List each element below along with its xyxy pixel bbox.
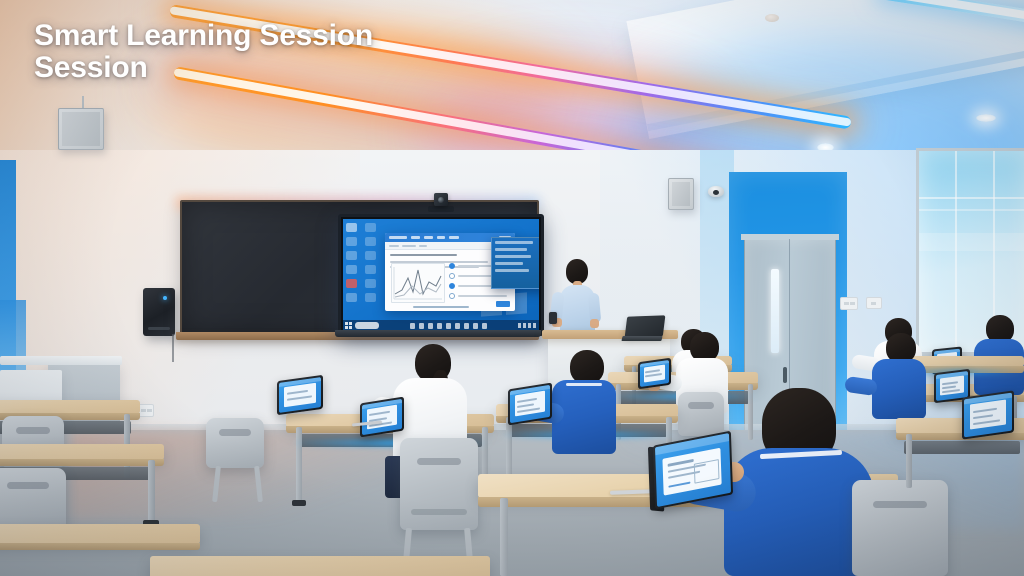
question-option[interactable] xyxy=(449,293,507,299)
desk-shelf xyxy=(904,441,1020,454)
control-unit-led-icon xyxy=(163,296,167,300)
search-box[interactable] xyxy=(355,322,379,329)
taskbar-icon[interactable] xyxy=(473,323,478,329)
context-menu-item[interactable] xyxy=(495,262,523,265)
chair-handle-slot xyxy=(417,458,461,465)
tablet-screen[interactable] xyxy=(964,393,1012,438)
desk-edge xyxy=(0,543,200,550)
chair-lower-slot xyxy=(411,509,467,515)
camera-mount xyxy=(428,206,454,212)
desktop-icon-column-2[interactable] xyxy=(365,223,379,302)
radio-icon[interactable] xyxy=(449,263,455,269)
interactive-display[interactable] xyxy=(338,214,544,336)
power-outlet-1[interactable] xyxy=(840,297,858,310)
smoke-detector-icon xyxy=(765,14,779,22)
display-screen[interactable] xyxy=(343,219,539,331)
context-menu-item[interactable] xyxy=(495,269,529,272)
speaker-grille-left xyxy=(62,112,100,146)
taskbar-icon[interactable] xyxy=(410,323,415,329)
door-handle-icon[interactable] xyxy=(783,367,787,383)
desk-left-2 xyxy=(0,444,164,460)
desk-leg xyxy=(296,427,302,505)
desk-left-3 xyxy=(0,524,200,544)
ribbon-item[interactable] xyxy=(402,245,416,247)
option-text xyxy=(458,295,507,297)
podium-laptop-screen xyxy=(625,315,666,337)
tray-icon[interactable] xyxy=(533,323,536,328)
chair-back xyxy=(400,438,478,530)
desk-leg xyxy=(906,434,912,488)
radio-icon[interactable] xyxy=(449,293,455,299)
app-menu-item[interactable] xyxy=(437,236,445,239)
window-mullion-1 xyxy=(955,151,957,357)
window-reflection-2 xyxy=(919,209,1024,211)
chair-left-2[interactable] xyxy=(0,468,66,530)
window-reflection-1 xyxy=(919,197,1024,199)
laptop-screen[interactable] xyxy=(362,399,402,435)
tablet-screen[interactable] xyxy=(510,385,550,423)
desk-left-1 xyxy=(0,400,140,414)
context-menu-item[interactable] xyxy=(495,255,531,258)
app-menu-item[interactable] xyxy=(424,236,433,239)
chair-foreground[interactable] xyxy=(852,480,948,576)
tablet-center-blue[interactable] xyxy=(508,383,552,426)
desk-leg xyxy=(748,384,753,440)
chair-handle-slot xyxy=(16,427,51,434)
context-menu-item[interactable] xyxy=(495,248,527,251)
student-torso xyxy=(872,359,926,419)
camera-lens-icon xyxy=(438,197,444,203)
desk-leg xyxy=(148,460,155,526)
page-title: Smart Learning Session Session xyxy=(34,20,373,84)
desk-top xyxy=(150,556,490,576)
display-bezel xyxy=(335,330,541,337)
app-menu-item[interactable] xyxy=(449,236,459,239)
chair-midrow[interactable] xyxy=(678,392,724,436)
desk-leg xyxy=(500,498,508,576)
chair-back xyxy=(0,468,66,530)
tray-icon[interactable] xyxy=(528,323,531,328)
door-frame-top xyxy=(741,234,839,240)
desktop-icon[interactable] xyxy=(365,279,376,288)
control-unit-cable xyxy=(172,334,174,362)
desktop-icon[interactable] xyxy=(365,265,376,274)
context-menu[interactable] xyxy=(491,237,539,289)
tablet-far-right-front[interactable] xyxy=(962,390,1014,439)
taskbar-icon[interactable] xyxy=(437,323,442,329)
tablet-screen[interactable] xyxy=(640,360,669,387)
app-primary-button[interactable] xyxy=(496,301,510,307)
wall-mounted-control-unit[interactable] xyxy=(143,288,175,336)
dome-camera-icon xyxy=(708,186,724,197)
taskbar-icon[interactable] xyxy=(482,323,487,329)
desktop-icon[interactable] xyxy=(346,279,357,288)
desktop-icon[interactable] xyxy=(365,251,376,260)
desktop-icon[interactable] xyxy=(365,293,376,302)
counter-top xyxy=(0,356,122,365)
start-button-icon[interactable] xyxy=(345,322,353,329)
chair-girl[interactable] xyxy=(400,438,478,530)
radio-icon[interactable] xyxy=(449,283,455,289)
laptop-girl[interactable] xyxy=(360,397,404,438)
chair-back xyxy=(678,392,724,436)
laptop-screen[interactable] xyxy=(279,377,321,413)
desktop-icon-column-1[interactable] xyxy=(346,223,360,302)
taskbar-icon[interactable] xyxy=(419,323,424,329)
taskbar-icon[interactable] xyxy=(455,323,460,329)
chair-handle-slot xyxy=(219,429,251,436)
desktop-icon[interactable] xyxy=(346,251,357,260)
student-head xyxy=(570,350,604,384)
power-outlet-2[interactable] xyxy=(866,297,882,309)
control-unit-vent xyxy=(148,327,170,330)
tray-icon[interactable] xyxy=(518,323,521,328)
desktop-icon[interactable] xyxy=(346,237,357,246)
podium-laptop-base xyxy=(621,336,662,341)
desktop-icon[interactable] xyxy=(365,237,376,246)
chair-handle-slot xyxy=(688,402,714,409)
taskbar-icon[interactable] xyxy=(464,323,469,329)
desktop-icon[interactable] xyxy=(346,293,357,302)
chair-handle-slot xyxy=(7,482,50,489)
taskbar-icon[interactable] xyxy=(428,323,433,329)
tray-icon[interactable] xyxy=(523,323,526,328)
downlight-3 xyxy=(976,114,996,122)
presentation-clicker[interactable] xyxy=(549,312,557,324)
chair-back xyxy=(852,480,948,576)
chair-back xyxy=(206,418,264,468)
desk-top xyxy=(0,400,140,414)
radio-icon[interactable] xyxy=(449,273,455,279)
student-collar xyxy=(566,383,602,386)
desk-top xyxy=(0,444,164,460)
app-title-text xyxy=(389,236,407,239)
chair-handle-slot xyxy=(873,501,927,508)
desktop-icon[interactable] xyxy=(365,223,376,232)
system-tray[interactable] xyxy=(518,323,536,328)
taskbar-icon[interactable] xyxy=(446,323,451,329)
classroom-scene: Smart Learning Session Session xyxy=(0,0,1024,576)
teacher-hand-right xyxy=(590,319,599,328)
speaker-grille-right xyxy=(672,182,690,206)
taskbar-pinned-icons[interactable] xyxy=(410,323,487,329)
chair-center-floor[interactable] xyxy=(206,418,264,468)
desktop-icon[interactable] xyxy=(346,223,357,232)
desktop-icon[interactable] xyxy=(346,265,357,274)
desk-bottom-front xyxy=(150,556,490,576)
app-menu-item[interactable] xyxy=(411,236,420,239)
wall-speaker-right xyxy=(668,178,694,210)
desk-edge xyxy=(896,433,1024,440)
app-chart xyxy=(391,263,445,303)
app-footer-line xyxy=(413,306,469,308)
title-line-1: Smart Learning Session xyxy=(34,19,373,52)
ribbon-item[interactable] xyxy=(389,245,399,247)
tablet-midrow-white[interactable] xyxy=(638,358,671,390)
blue-wall-strip-lower xyxy=(0,300,26,380)
context-menu-item[interactable] xyxy=(495,241,533,244)
wall-speaker-left xyxy=(58,108,104,150)
laptop-left-empty-desk[interactable] xyxy=(277,375,323,415)
ribbon-item[interactable] xyxy=(419,245,427,247)
door-vision-panel xyxy=(771,269,779,353)
desk-top xyxy=(0,524,200,544)
title-line-2: Session xyxy=(34,52,373,84)
desk-edge xyxy=(0,459,164,466)
desk-foot xyxy=(292,500,306,506)
app-heading-line xyxy=(390,254,457,256)
window-reflection-3 xyxy=(919,233,1024,251)
chart-svg xyxy=(392,264,444,302)
